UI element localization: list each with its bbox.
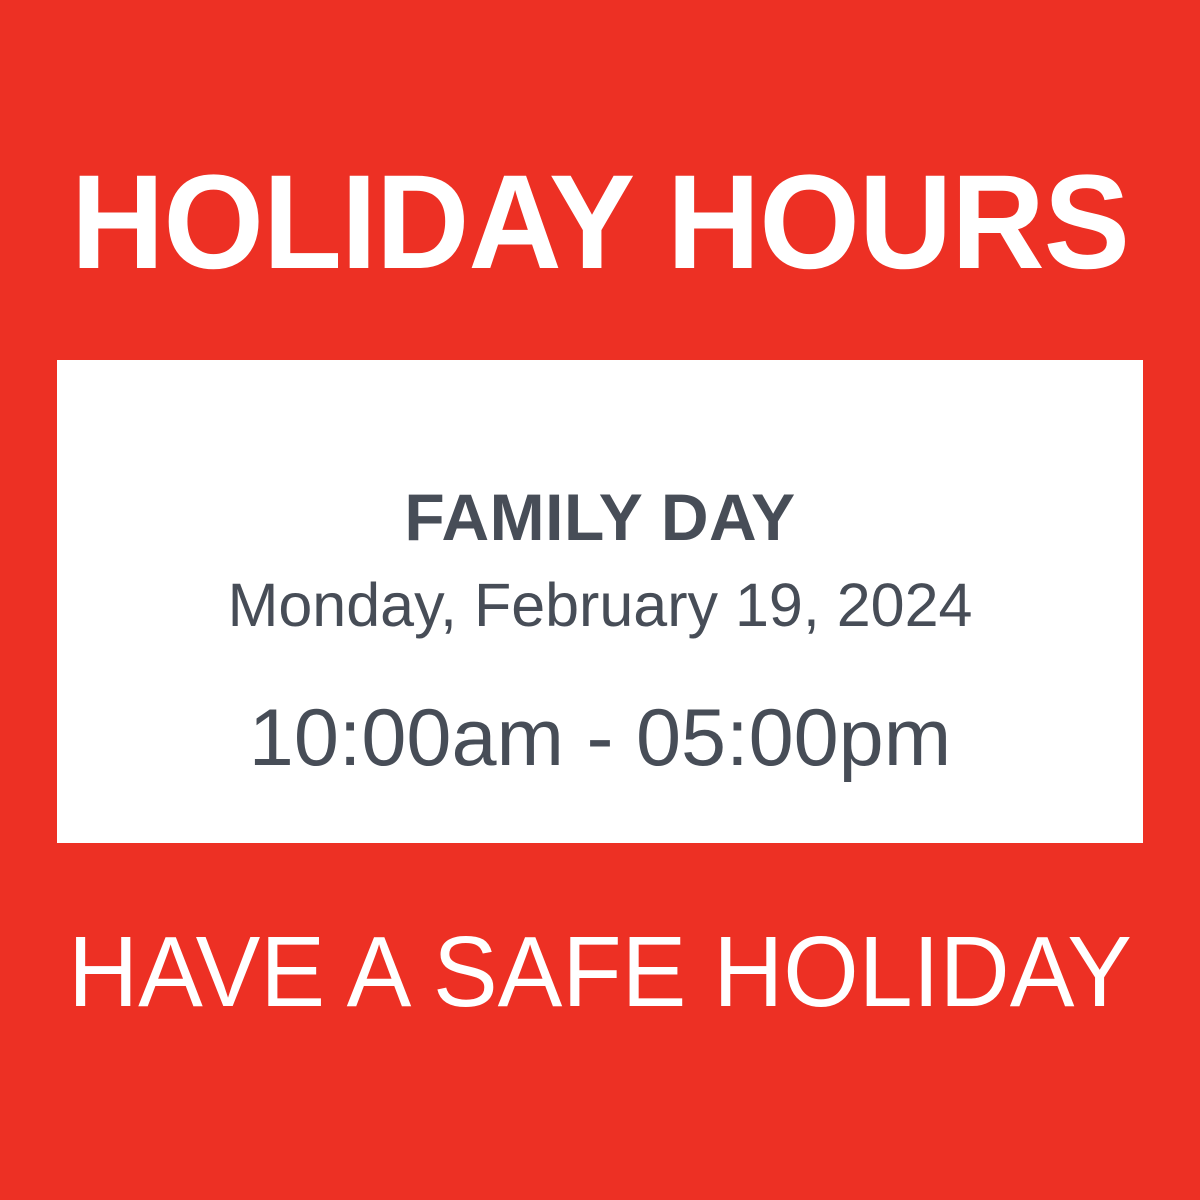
page-title: HOLIDAY HOURS — [21, 148, 1179, 298]
footer-message: HAVE A SAFE HOLIDAY — [18, 916, 1182, 1028]
holiday-hours-range: 10:00am - 05:00pm — [57, 694, 1143, 782]
holiday-hours-poster: HOLIDAY HOURS FAMILY DAY Monday, Februar… — [0, 0, 1200, 1200]
holiday-date: Monday, February 19, 2024 — [57, 572, 1143, 638]
holiday-details-card: FAMILY DAY Monday, February 19, 2024 10:… — [57, 360, 1143, 843]
holiday-name: FAMILY DAY — [57, 481, 1143, 553]
